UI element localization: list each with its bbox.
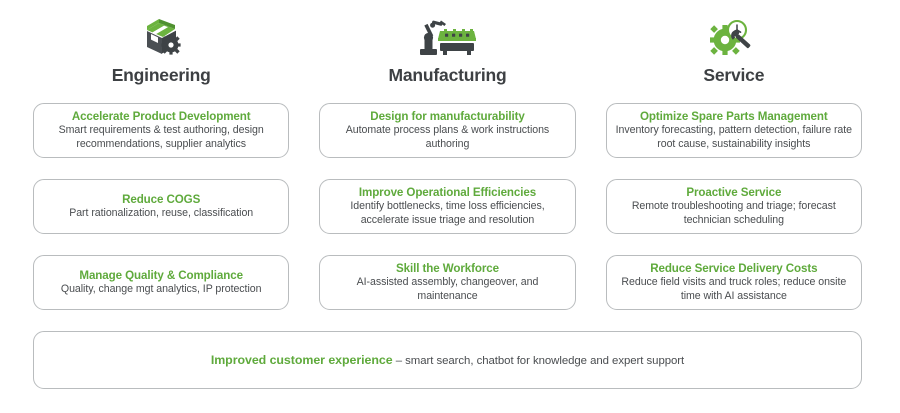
column-header-service: Service (606, 14, 862, 86)
gear-clock-wrench-icon (708, 14, 760, 60)
column-title: Engineering (112, 64, 211, 86)
card-design-for-manufacturability[interactable]: Design for manufacturability Automate pr… (319, 103, 575, 158)
card-column-engineering: Accelerate Product Development Smart req… (33, 103, 289, 310)
card-title: Improve Operational Efficiencies (359, 185, 536, 200)
card-reduce-service-delivery-costs[interactable]: Reduce Service Delivery Costs Reduce fie… (606, 255, 862, 310)
card-column-manufacturing: Design for manufacturability Automate pr… (319, 103, 575, 310)
column-header-manufacturing: Manufacturing (319, 14, 575, 86)
column-title: Manufacturing (389, 64, 507, 86)
card-description: Smart requirements & test authoring, des… (42, 124, 280, 151)
card-description: Inventory forecasting, pattern detection… (615, 124, 853, 151)
card-proactive-service[interactable]: Proactive Service Remote troubleshooting… (606, 179, 862, 234)
card-skill-the-workforce[interactable]: Skill the Workforce AI-assisted assembly… (319, 255, 575, 310)
card-description: Identify bottlenecks, time loss efficien… (328, 200, 566, 227)
card-column-service: Optimize Spare Parts Management Inventor… (606, 103, 862, 310)
banner-detail: – smart search, chatbot for knowledge an… (393, 355, 685, 367)
card-description: AI-assisted assembly, changeover, and ma… (328, 276, 566, 303)
card-title: Design for manufacturability (370, 109, 524, 124)
card-improve-operational-efficiencies[interactable]: Improve Operational Efficiencies Identif… (319, 179, 575, 234)
card-title: Optimize Spare Parts Management (640, 109, 828, 124)
card-description: Part rationalization, reuse, classificat… (69, 207, 253, 221)
card-description: Remote troubleshooting and triage; forec… (615, 200, 853, 227)
banner-text: Improved customer experience – smart sea… (211, 352, 684, 369)
card-title: Accelerate Product Development (72, 109, 251, 124)
value-map-board: Engineering (0, 0, 900, 413)
card-description: Automate process plans & work instructio… (328, 124, 566, 151)
card-title: Reduce Service Delivery Costs (650, 261, 817, 276)
card-title: Manage Quality & Compliance (79, 268, 243, 283)
card-grid: Accelerate Product Development Smart req… (33, 103, 862, 310)
robot-arm-conveyor-icon (416, 14, 478, 60)
card-title: Reduce COGS (122, 192, 200, 207)
column-title: Service (703, 64, 764, 86)
column-header-row: Engineering (33, 14, 862, 86)
banner-highlight: Improved customer experience (211, 353, 393, 367)
card-reduce-cogs[interactable]: Reduce COGS Part rationalization, reuse,… (33, 179, 289, 234)
card-description: Quality, change mgt analytics, IP protec… (61, 283, 262, 297)
column-header-engineering: Engineering (33, 14, 289, 86)
improved-customer-experience-banner[interactable]: Improved customer experience – smart sea… (33, 331, 862, 389)
card-description: Reduce field visits and truck roles; red… (615, 276, 853, 303)
card-optimize-spare-parts-management[interactable]: Optimize Spare Parts Management Inventor… (606, 103, 862, 158)
card-title: Skill the Workforce (396, 261, 499, 276)
card-title: Proactive Service (686, 185, 781, 200)
card-accelerate-product-development[interactable]: Accelerate Product Development Smart req… (33, 103, 289, 158)
card-manage-quality-compliance[interactable]: Manage Quality & Compliance Quality, cha… (33, 255, 289, 310)
box-gear-icon (138, 14, 184, 60)
